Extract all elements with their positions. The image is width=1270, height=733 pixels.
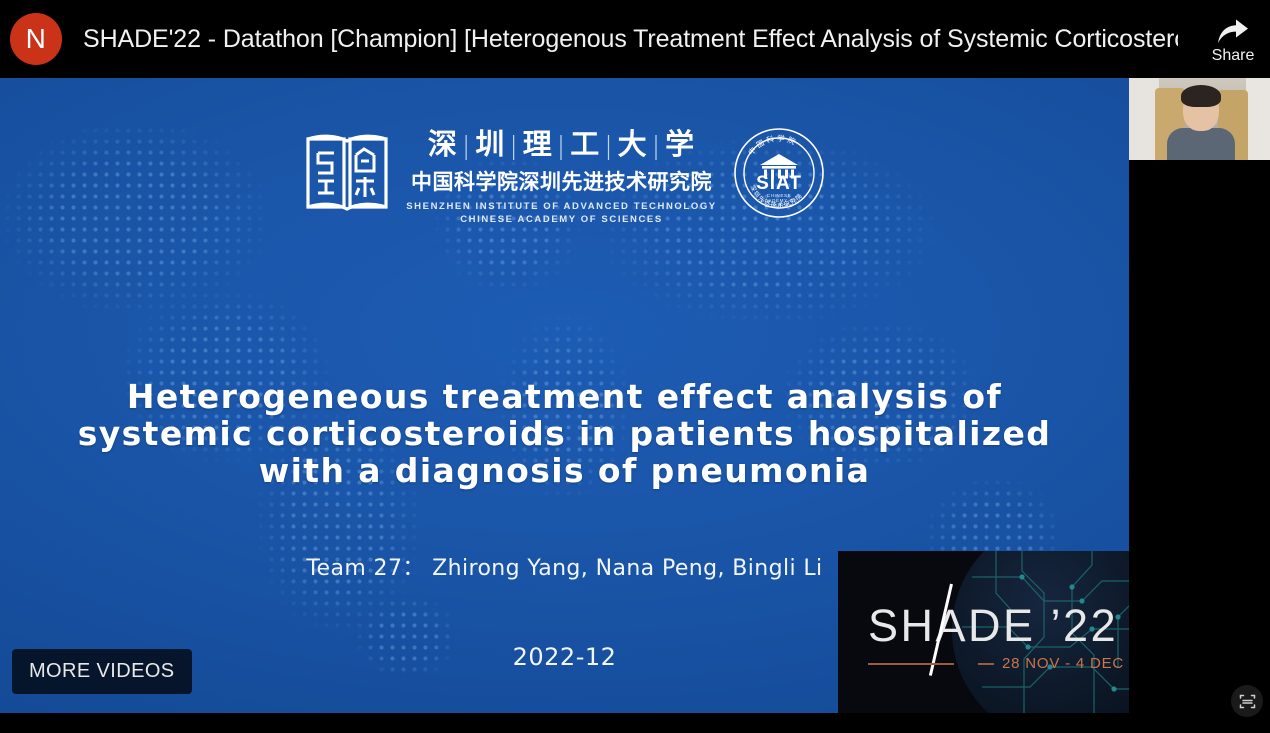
uni-char-5: 大: [618, 127, 648, 161]
share-label: Share: [1212, 48, 1255, 64]
presenter-webcam[interactable]: [1129, 78, 1270, 160]
uni-char-4: 工: [570, 127, 600, 161]
uni-char-2: 圳: [475, 127, 505, 161]
webcam-person-body: [1167, 128, 1235, 160]
fullscreen-button[interactable]: [1231, 685, 1263, 717]
uni-sep-1: |: [458, 131, 475, 160]
shade-wordmark: SHADE ’22: [868, 603, 1118, 648]
uni-sep-4: |: [600, 131, 617, 160]
institute-name-en-line1: SHENZHEN INSTITUTE OF ADVANCED TECHNOLOG…: [406, 201, 717, 212]
fullscreen-expand-icon: [1239, 693, 1256, 710]
uni-sep-3: |: [553, 131, 570, 160]
institute-name-cn: 中国科学院深圳先进技术研究院: [411, 166, 712, 196]
siat-seal-icon: SIAT CHINESE ACADEMY OF SCIENCES 中国科学院 深…: [733, 127, 825, 219]
university-name-block: 深|圳|理|工|大|学 中国科学院深圳先进技术研究院 SHENZHEN INST…: [406, 121, 717, 225]
slide-headline: Heterogeneous treatment effect analysis …: [0, 378, 1129, 489]
avatar-letter: N: [26, 25, 47, 53]
share-arrow-icon: [1216, 17, 1250, 47]
shade-branding-overlay: SHADE ’22 28 NOV - 4 DEC: [838, 551, 1129, 713]
shade-event-dates: 28 NOV - 4 DEC: [1002, 655, 1124, 672]
uni-char-6: 学: [665, 127, 695, 161]
channel-avatar[interactable]: N: [10, 13, 62, 65]
svg-text:SIAT: SIAT: [756, 173, 802, 194]
webcam-background-right: [1246, 78, 1270, 160]
institution-logo-row: 深|圳|理|工|大|学 中国科学院深圳先进技术研究院 SHENZHEN INST…: [0, 121, 1129, 225]
presentation-slide: 深|圳|理|工|大|学 中国科学院深圳先进技术研究院 SHENZHEN INST…: [0, 78, 1129, 713]
uni-sep-2: |: [505, 131, 522, 160]
shenzhen-book-logo-icon: [304, 131, 390, 215]
university-name-cn: 深|圳|理|工|大|学: [428, 121, 695, 163]
shade-rule-left: [868, 663, 954, 665]
video-title[interactable]: SHADE'22 - Datathon [Champion] [Heteroge…: [83, 25, 1178, 54]
video-player[interactable]: 深|圳|理|工|大|学 中国科学院深圳先进技术研究院 SHENZHEN INST…: [0, 78, 1270, 733]
uni-sep-5: |: [648, 131, 665, 160]
more-videos-button[interactable]: MORE VIDEOS: [12, 649, 192, 694]
share-button[interactable]: Share: [1202, 8, 1264, 72]
video-header: N SHADE'22 - Datathon [Champion] [Hetero…: [0, 0, 1270, 78]
shade-wordmark-block: SHADE ’22 28 NOV - 4 DEC: [838, 551, 1129, 713]
institute-name-en-line2: CHINESE ACADEMY OF SCIENCES: [460, 214, 663, 225]
uni-char-3: 理: [523, 127, 553, 161]
shade-rule-right: [978, 663, 994, 665]
uni-char-1: 深: [428, 127, 458, 161]
youtube-player-page: N SHADE'22 - Datathon [Champion] [Hetero…: [0, 0, 1270, 733]
webcam-person-hair: [1181, 85, 1221, 107]
